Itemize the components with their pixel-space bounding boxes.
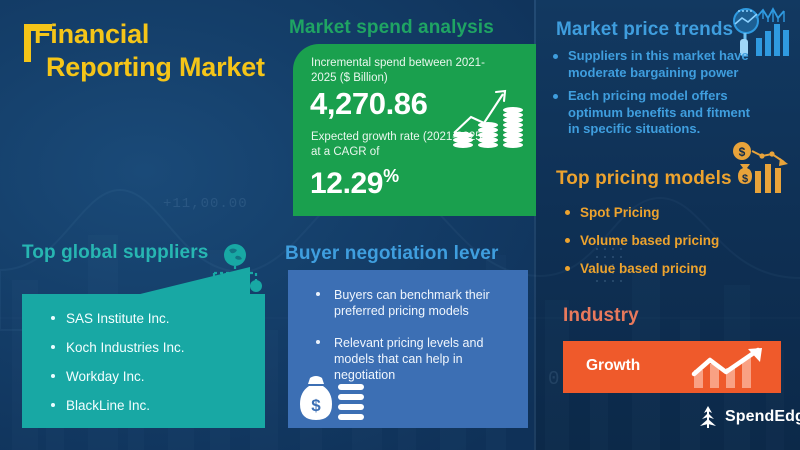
industry-heading: Industry: [563, 305, 639, 327]
suppliers-heading: Top global suppliers: [22, 242, 208, 264]
status-badge: Growth: [586, 357, 640, 375]
market-spend-heading: Market spend analysis: [289, 17, 494, 39]
cagr-unit: %: [383, 166, 399, 186]
brand-logo: SpendEdge™: [697, 405, 800, 429]
list-item: Each pricing model offers optimum benefi…: [551, 88, 751, 138]
list-item: BlackLine Inc.: [48, 397, 263, 414]
pricing-models-bullets: Spot Pricing Volume based pricing Value …: [563, 204, 763, 284]
buyer-lever-bullets: Buyers can benchmark their preferred pri…: [312, 287, 522, 399]
list-item: SAS Institute Inc.: [48, 310, 263, 327]
list-item: Relevant pricing levels and models that …: [312, 335, 522, 383]
background-ghost-value-1: 0: [548, 368, 560, 390]
price-trends-heading: Market price trends: [556, 19, 733, 41]
list-item: Suppliers in this market have moderate b…: [551, 48, 751, 81]
list-item: Value based pricing: [563, 260, 763, 277]
market-spend-panel: Incremental spend between 2021-2025 ($ B…: [293, 44, 536, 216]
price-trends-bullets: Suppliers in this market have moderate b…: [551, 48, 751, 145]
cagr-value: 12.29: [310, 167, 383, 200]
svg-text:$: $: [739, 145, 746, 159]
brand-name: SpendEdge: [725, 408, 800, 425]
infographic-canvas: +11,00.00 0 0 0 Financial Reporting Mark…: [0, 0, 800, 450]
coin-stacks-growth-icon: [451, 80, 529, 152]
background-ghost-value-0: +11,00.00: [163, 196, 248, 212]
growth-arrow-bars-icon: [686, 346, 774, 390]
list-item: Koch Industries Inc.: [48, 339, 263, 356]
pricing-models-heading: Top pricing models: [556, 168, 732, 190]
list-item: Workday Inc.: [48, 368, 263, 385]
page-title-line1: Financial: [34, 19, 149, 49]
list-item: Spot Pricing: [563, 204, 763, 221]
money-bag-declining-chart-icon: $ $: [728, 138, 794, 200]
spendedge-chevron-logo-icon: [697, 405, 719, 429]
suppliers-list: SAS Institute Inc. Koch Industries Inc. …: [48, 310, 263, 426]
industry-growth-badge: Growth: [563, 341, 781, 393]
incremental-spend-value: 4,270.86: [310, 86, 427, 122]
page-title-line2: Reporting Market: [46, 51, 292, 84]
svg-text:$: $: [742, 173, 748, 185]
list-item: Buyers can benchmark their preferred pri…: [312, 287, 522, 319]
list-item: Volume based pricing: [563, 232, 763, 249]
buyer-lever-heading: Buyer negotiation lever: [285, 243, 498, 265]
page-title: Financial Reporting Market: [22, 18, 292, 84]
